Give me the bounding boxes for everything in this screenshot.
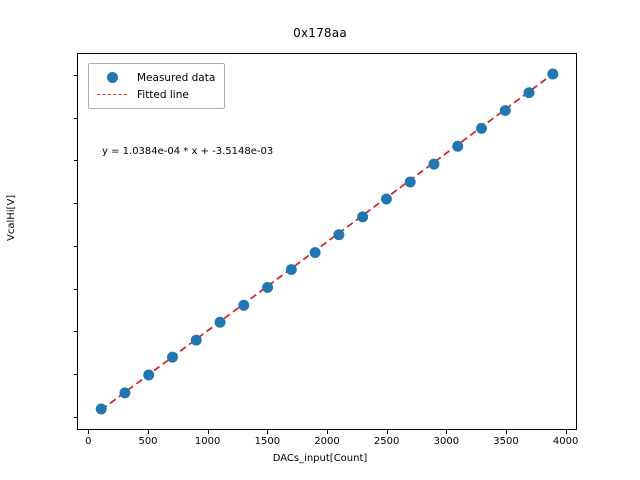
data-point (262, 282, 273, 293)
x-tick-mark (446, 430, 447, 434)
legend: Measured data Fitted line (88, 63, 225, 109)
plot-svg (78, 54, 576, 429)
data-point (476, 123, 487, 134)
dashed-line-icon (96, 94, 128, 95)
plot-area: Measured data Fitted line y = 1.0384e-04… (77, 53, 577, 430)
legend-label-fitted-line: Fitted line (128, 89, 189, 101)
data-point (143, 370, 154, 381)
data-point (500, 105, 511, 116)
x-tick-mark (327, 430, 328, 434)
data-point (238, 300, 249, 311)
fit-equation-annotation: y = 1.0384e-04 * x + -3.5148e-03 (102, 146, 273, 157)
data-point (405, 177, 416, 188)
data-point (167, 352, 178, 363)
legend-item-fitted-line: Fitted line (96, 86, 215, 103)
data-point (524, 87, 535, 98)
x-tick-label: 4000 (553, 436, 578, 447)
x-tick-mark (267, 430, 268, 434)
x-tick-label: 1500 (255, 436, 280, 447)
x-tick-label: 3500 (493, 436, 518, 447)
data-point (452, 141, 463, 152)
data-point (119, 387, 130, 398)
x-tick-label: 1000 (195, 436, 220, 447)
data-point (428, 159, 439, 170)
legend-item-measured-data: Measured data (96, 69, 215, 86)
y-axis-label: VcalHi[V] (6, 195, 17, 241)
x-tick-mark (387, 430, 388, 434)
x-tick-label: 500 (138, 436, 157, 447)
x-axis-label: DACs_input[Count] (0, 453, 640, 464)
data-point (357, 211, 368, 222)
marker-dot-icon (96, 72, 128, 83)
data-point (215, 317, 226, 328)
chart-title: 0x178aa (0, 26, 640, 40)
figure-canvas: 0x178aa VcalHi[V] DACs_input[Count] 0.00… (0, 0, 640, 480)
x-tick-mark (566, 430, 567, 434)
x-tick-label: 3000 (434, 436, 459, 447)
data-point (96, 404, 107, 415)
data-point (286, 264, 297, 275)
data-point (381, 194, 392, 205)
x-tick-mark (506, 430, 507, 434)
x-tick-label: 0 (85, 436, 91, 447)
data-point (310, 247, 321, 258)
data-point (191, 335, 202, 346)
legend-label-measured-data: Measured data (128, 72, 215, 84)
x-tick-label: 2000 (314, 436, 339, 447)
data-point (547, 69, 558, 80)
x-tick-mark (208, 430, 209, 434)
x-tick-label: 2500 (374, 436, 399, 447)
data-point (333, 229, 344, 240)
x-tick-mark (88, 430, 89, 434)
x-tick-mark (148, 430, 149, 434)
